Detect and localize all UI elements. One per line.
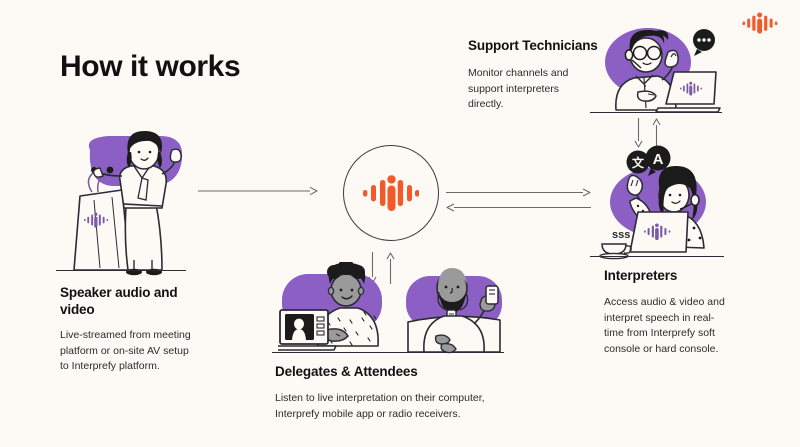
- speaker-title: Speaker audio and video: [60, 285, 210, 319]
- interpreters-body: Access audio & video and interpret speec…: [604, 295, 729, 358]
- chat-bubble-icon: [693, 29, 715, 56]
- support-section: Support Technicians Monitor channels and…: [468, 38, 598, 113]
- mobile-phone-icon: [486, 286, 498, 304]
- delegates-attendees-illustration: [278, 262, 390, 354]
- support-body: Monitor channels and support interpreter…: [468, 66, 588, 113]
- delegates-section: Delegates & Attendees Listen to live int…: [275, 364, 510, 422]
- interprefy-waveform-logo: [363, 175, 419, 211]
- attendee-with-receiver-illustration: [402, 262, 512, 354]
- interprefy-platform-node: [343, 145, 439, 241]
- coffee-steam-label: sss: [612, 229, 630, 241]
- interpreters-section: Interpreters Access audio & video and in…: [604, 268, 764, 358]
- arrow-speaker-to-platform: [198, 186, 318, 196]
- support-technician-illustration: [596, 22, 721, 117]
- interpreter-at-laptop-illustration: 文 A: [596, 140, 724, 260]
- page-title: How it works: [60, 50, 390, 83]
- support-ground-line: [590, 112, 722, 113]
- delegates-body: Listen to live interpretation on their c…: [275, 391, 500, 423]
- language-bubble-source: 文: [627, 151, 650, 174]
- arrow-interpreters-to-platform: [446, 203, 591, 212]
- delegates-title: Delegates & Attendees: [275, 364, 510, 381]
- support-title: Support Technicians: [468, 38, 598, 55]
- interpreter-ground-line: [590, 256, 724, 257]
- speaker-at-podium-illustration: [62, 128, 212, 278]
- brand-logo: [742, 12, 778, 34]
- infographic-canvas: How it works: [0, 0, 800, 447]
- speaker-section: Speaker audio and video Live-streamed fr…: [60, 285, 210, 375]
- svg-text:A: A: [653, 151, 664, 168]
- interprefy-waveform-logo: [742, 12, 778, 34]
- speaker-body: Live-streamed from meeting platform or o…: [60, 328, 200, 375]
- svg-text:文: 文: [632, 155, 645, 170]
- arrow-platform-to-interpreters: [446, 188, 591, 197]
- speaker-ground-line: [56, 270, 186, 271]
- delegates-ground-line: [272, 352, 504, 353]
- interpreters-title: Interpreters: [604, 268, 764, 285]
